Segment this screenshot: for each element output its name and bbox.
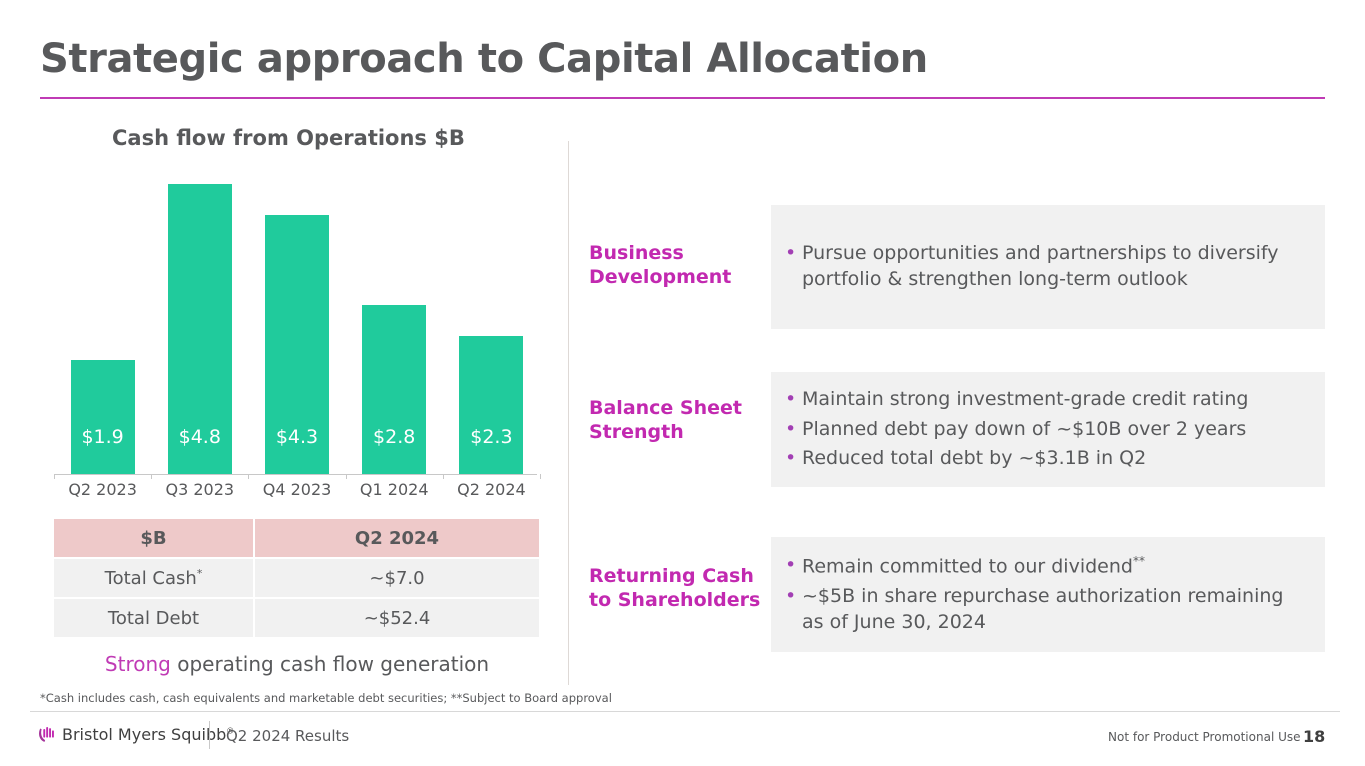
footer-logo-separator [209,721,210,749]
table-cell-value: ~$52.4 [254,598,539,637]
pillar-bullet-panel: •Remain committed to our dividend**•~$5B… [771,537,1325,652]
footer-divider-rule [30,711,1340,712]
axis-tick [443,474,444,479]
table-cell-value: ~$7.0 [254,558,539,598]
bullet-dot-icon: • [785,417,802,443]
chart-axis-line [54,474,537,475]
table-header-row: $B Q2 2024 [54,519,539,558]
pillar-heading: Business Development [589,241,769,290]
bms-logo: Bristol Myers Squibb® [37,724,234,744]
axis-tick [248,474,249,479]
pillar-bullet-panel: •Maintain strong investment-grade credit… [771,372,1325,487]
bullet-text: ~$5B in share repurchase authorization r… [802,584,1307,635]
chart-category-label: Q4 2023 [248,480,345,499]
pillar-heading: Returning Cash to Shareholders [589,564,769,613]
table-row: Total Cash*~$7.0 [54,558,539,598]
column-divider [568,141,569,685]
bar: $4.8 [168,184,232,475]
bar-slot: $1.9 [54,160,151,475]
bar-chart: $1.9$4.8$4.3$2.8$2.3 [54,160,540,475]
table-row: Total Debt~$52.4 [54,598,539,637]
bar: $2.3 [459,336,523,475]
footer-deck-name: Q2 2024 Results [226,727,349,745]
bms-logo-mark [37,724,57,744]
bar-slot: $2.8 [346,160,443,475]
bullet-item: •Reduced total debt by ~$3.1B in Q2 [785,446,1307,472]
axis-tick [540,474,541,479]
bar-slot: $4.8 [151,160,248,475]
bar: $2.8 [362,305,426,475]
bar-value-label: $2.8 [362,426,426,448]
bullet-dot-icon: • [785,387,802,413]
axis-tick [346,474,347,479]
bar-slot: $2.3 [443,160,540,475]
bar-value-label: $1.9 [71,426,135,448]
chart-title: Cash flow from Operations $B [112,126,465,150]
bullet-text: Remain committed to our dividend** [802,553,1307,580]
bullet-dot-icon: • [785,584,802,610]
bar-value-label: $4.8 [168,426,232,448]
bullet-text: Planned debt pay down of ~$10B over 2 ye… [802,417,1307,443]
footer-notice: Not for Product Promotional Use [1108,730,1301,744]
chart-category-label: Q1 2024 [346,480,443,499]
bullet-item: •Planned debt pay down of ~$10B over 2 y… [785,417,1307,443]
pillar-heading: Balance Sheet Strength [589,396,769,445]
tagline-rest: operating cash flow generation [171,652,489,676]
bar-value-label: $2.3 [459,426,523,448]
chart-category-label: Q3 2023 [151,480,248,499]
bar: $4.3 [265,215,329,475]
bar: $1.9 [71,360,135,475]
bullet-dot-icon: • [785,553,802,579]
chart-category-label: Q2 2023 [54,480,151,499]
page-number: 18 [1303,727,1325,746]
bar-slot: $4.3 [248,160,345,475]
table-col-header-period: Q2 2024 [254,519,539,558]
table-col-header-metric: $B [54,519,254,558]
bullet-item: •~$5B in share repurchase authorization … [785,584,1307,635]
bar-value-label: $4.3 [265,426,329,448]
bullet-text: Pursue opportunities and partnerships to… [802,241,1307,292]
bullet-dot-icon: • [785,241,802,267]
table-body: Total Cash*~$7.0Total Debt~$52.4 [54,558,539,637]
bullet-text: Reduced total debt by ~$3.1B in Q2 [802,446,1307,472]
axis-tick [151,474,152,479]
cash-flow-tagline: Strong operating cash flow generation [54,652,540,676]
footnote: *Cash includes cash, cash equivalents an… [40,691,612,705]
axis-tick [54,474,55,479]
finance-table: $B Q2 2024 Total Cash*~$7.0Total Debt~$5… [54,519,539,637]
bullet-text: Maintain strong investment-grade credit … [802,387,1307,413]
bullet-item: •Pursue opportunities and partnerships t… [785,241,1307,292]
title-underline-rule [40,97,1325,99]
footnote-marker: ** [1133,554,1145,568]
footnote-marker: * [197,567,203,580]
bullet-item: •Maintain strong investment-grade credit… [785,387,1307,413]
bullet-dot-icon: • [785,446,802,472]
table-cell-metric: Total Cash* [54,558,254,598]
table-cell-metric: Total Debt [54,598,254,637]
chart-category-labels: Q2 2023Q3 2023Q4 2023Q1 2024Q2 2024 [54,480,540,499]
tagline-highlight: Strong [105,652,171,676]
bullet-item: •Remain committed to our dividend** [785,553,1307,580]
page-title: Strategic approach to Capital Allocation [40,36,928,82]
pillar-bullet-panel: •Pursue opportunities and partnerships t… [771,205,1325,329]
chart-category-label: Q2 2024 [443,480,540,499]
